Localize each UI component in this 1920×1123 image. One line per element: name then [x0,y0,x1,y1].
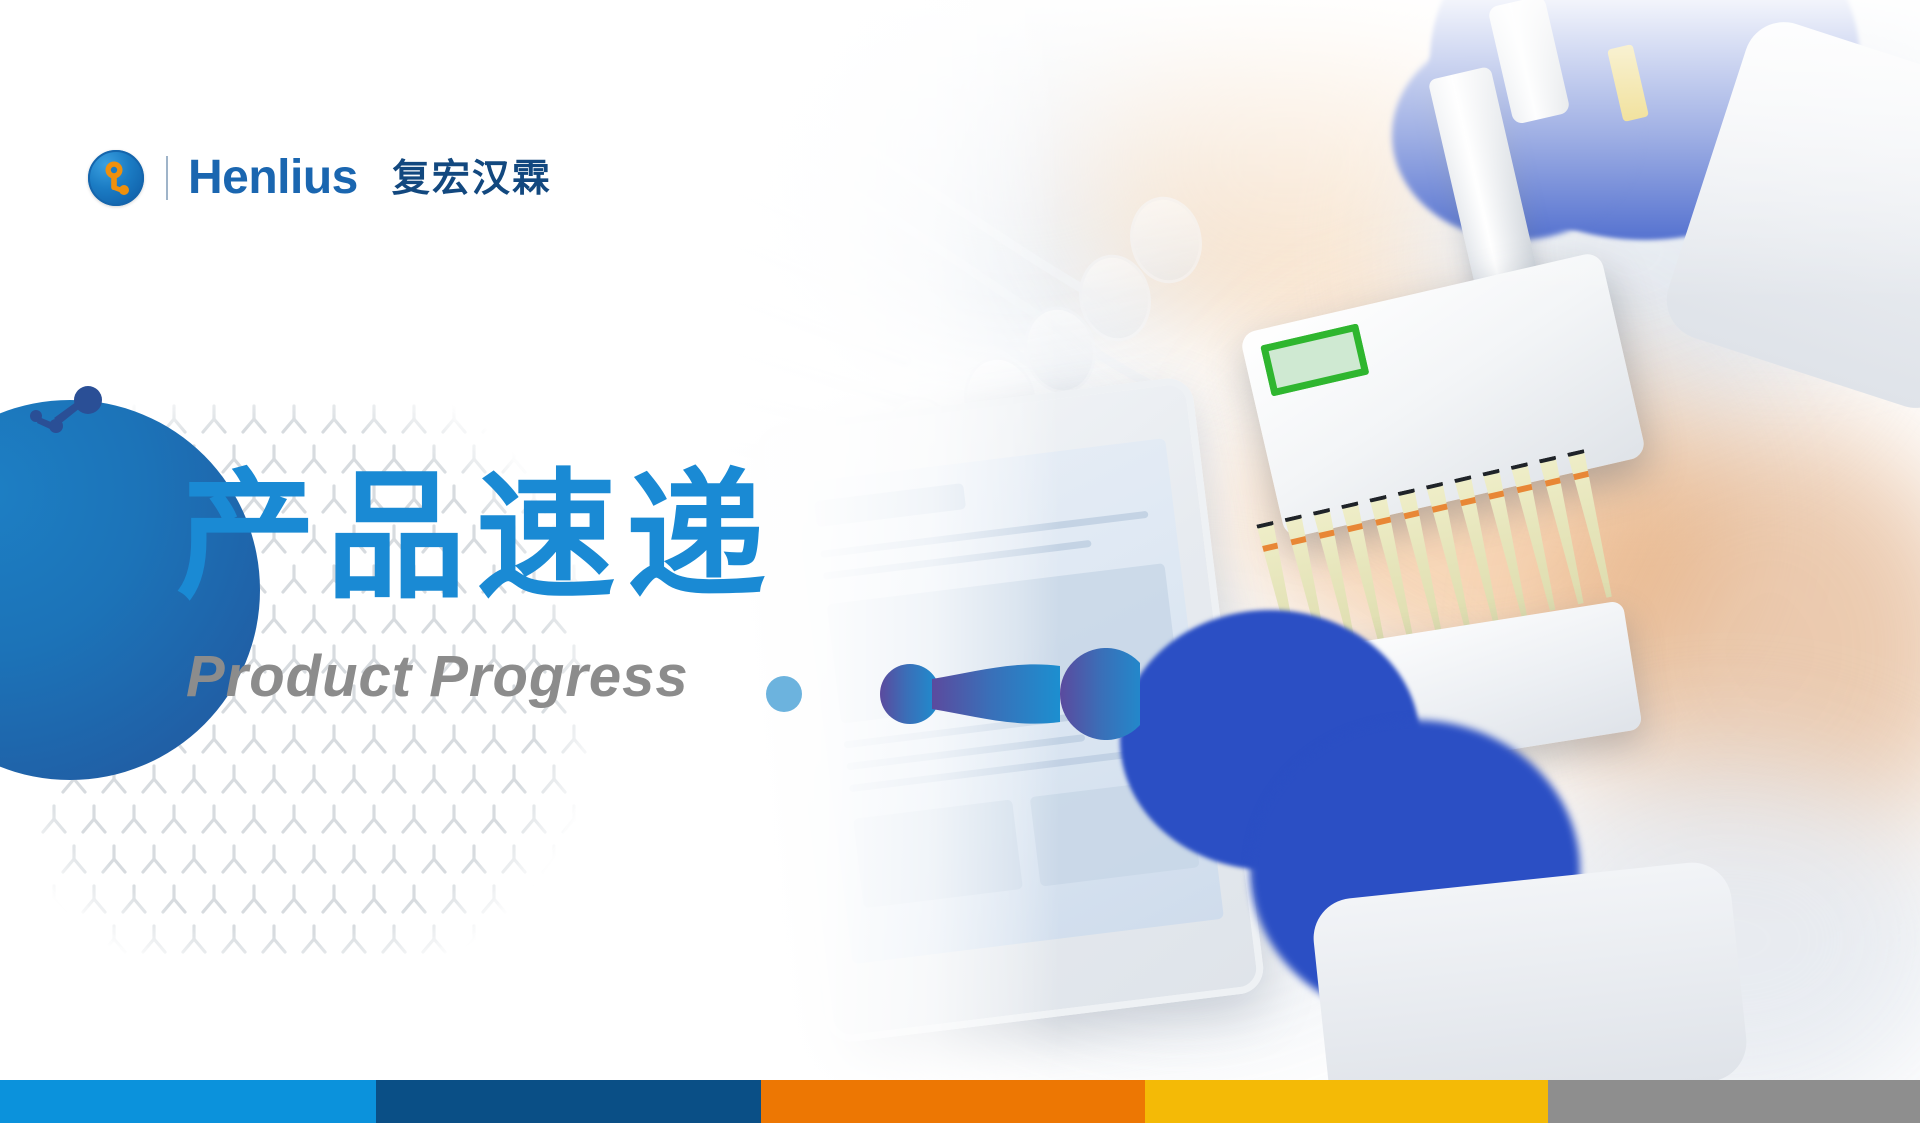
logo-divider [166,156,168,200]
logo-chinese-name: 复宏汉霖 [392,159,552,197]
bottom-bar-segment-orange [761,1080,1145,1123]
bottom-color-bar [0,1080,1920,1123]
small-dot-icon [766,676,802,712]
brand-logo[interactable]: Henlius 复宏汉霖 [88,150,552,206]
title-slide: Henlius 复宏汉霖 产品速递 Product Progress [0,0,1920,1123]
bottom-bar-segment-gray [1548,1080,1920,1123]
page-subtitle: Product Progress [186,648,689,706]
bottom-bar-segment-blue [0,1080,376,1123]
badge-glyph-icon [88,150,144,206]
pipette-green-label [1260,323,1369,396]
bottom-bar-segment-navy [376,1080,761,1123]
molecule-node-icon [30,386,110,440]
bottom-bar-segment-amber [1145,1080,1548,1123]
page-title: 产品速递 [176,468,776,608]
molecule-metaball-icon [760,648,1140,740]
henlius-badge-icon [88,150,144,206]
logo-name: Henlius [188,154,358,202]
